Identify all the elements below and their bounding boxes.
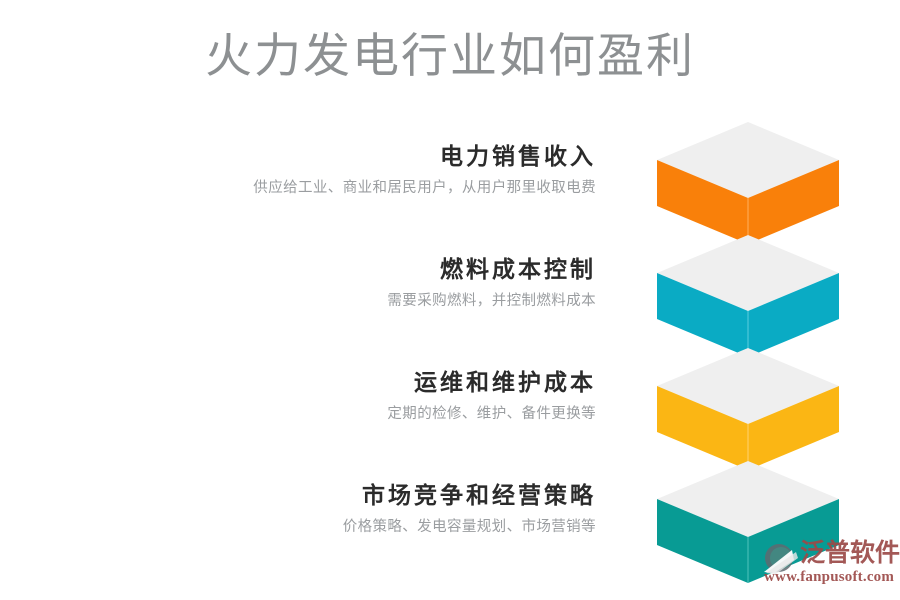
page-title: 火力发电行业如何盈利 [0,28,900,83]
isometric-box-orange-icon [655,118,841,246]
text-block-4: 市场竞争和经营策略 价格策略、发电容量规划、市场营销等 [120,481,598,537]
block-description: 供应给工业、商业和居民用户，从用户那里收取电费 [120,179,596,198]
text-block-3: 运维和维护成本 定期的检修、维护、备件更换等 [120,368,598,424]
slide-canvas: 火力发电行业如何盈利 电力销售收入 供应给工业、商业和居民用户，从用户那里收取电… [0,0,900,600]
text-block-1: 电力销售收入 供应给工业、商业和居民用户，从用户那里收取电费 [120,142,598,198]
isometric-box-2 [655,231,841,359]
isometric-box-3 [655,344,841,472]
text-block-2: 燃料成本控制 需要采购燃料，并控制燃料成本 [120,255,598,311]
isometric-box-1 [655,118,841,246]
block-description: 需要采购燃料，并控制燃料成本 [120,292,596,311]
isometric-box-4 [655,457,841,585]
isometric-box-yellow-icon [655,344,841,472]
isometric-box-teal-icon [655,457,841,585]
block-description: 定期的检修、维护、备件更换等 [120,405,596,424]
isometric-box-stack [655,118,845,598]
block-heading: 市场竞争和经营策略 [120,481,596,510]
block-heading: 电力销售收入 [120,142,596,171]
block-heading: 运维和维护成本 [120,368,596,397]
block-description: 价格策略、发电容量规划、市场营销等 [120,518,596,537]
block-heading: 燃料成本控制 [120,255,596,284]
isometric-box-cyan-icon [655,231,841,359]
